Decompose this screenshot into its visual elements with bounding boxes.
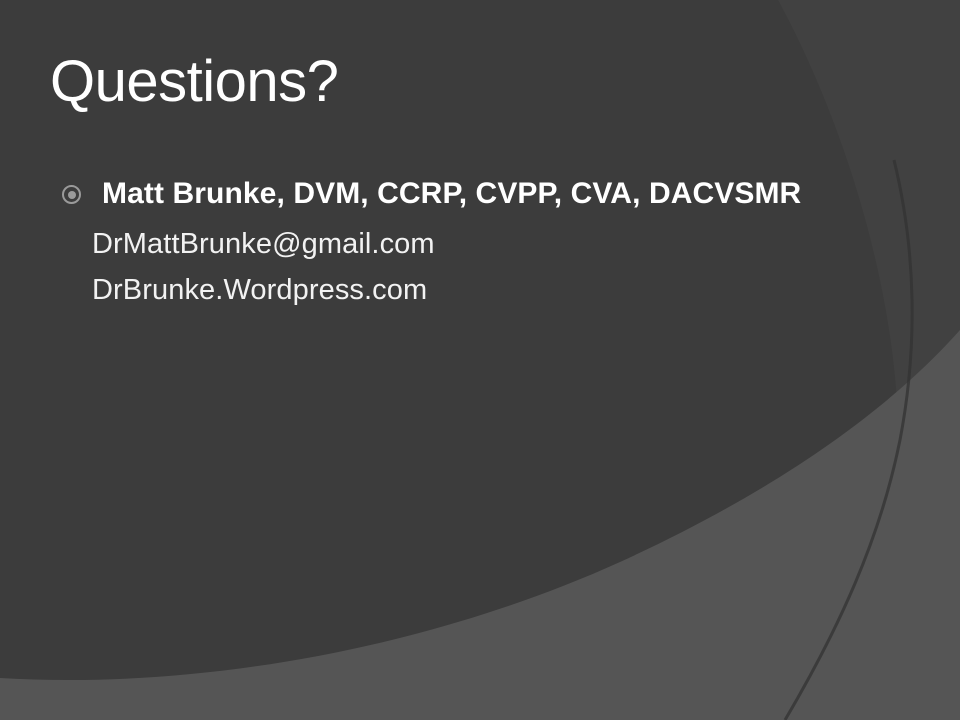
contact-email: DrMattBrunke@gmail.com: [58, 227, 888, 263]
list-item: Matt Brunke, DVM, CCRP, CVPP, CVA, DACVS…: [58, 176, 888, 213]
slide-content: Questions? Matt Brunke, DVM, CCRP, CVPP,…: [0, 0, 960, 720]
contact-website: DrBrunke.Wordpress.com: [58, 273, 888, 309]
list-item-label: Matt Brunke, DVM, CCRP, CVPP, CVA, DACVS…: [102, 177, 801, 210]
presentation-slide: Questions? Matt Brunke, DVM, CCRP, CVPP,…: [0, 0, 960, 720]
slide-body: Matt Brunke, DVM, CCRP, CVPP, CVA, DACVS…: [58, 176, 888, 309]
fisheye-bullet-icon: [62, 185, 81, 204]
page-title: Questions?: [50, 52, 338, 113]
